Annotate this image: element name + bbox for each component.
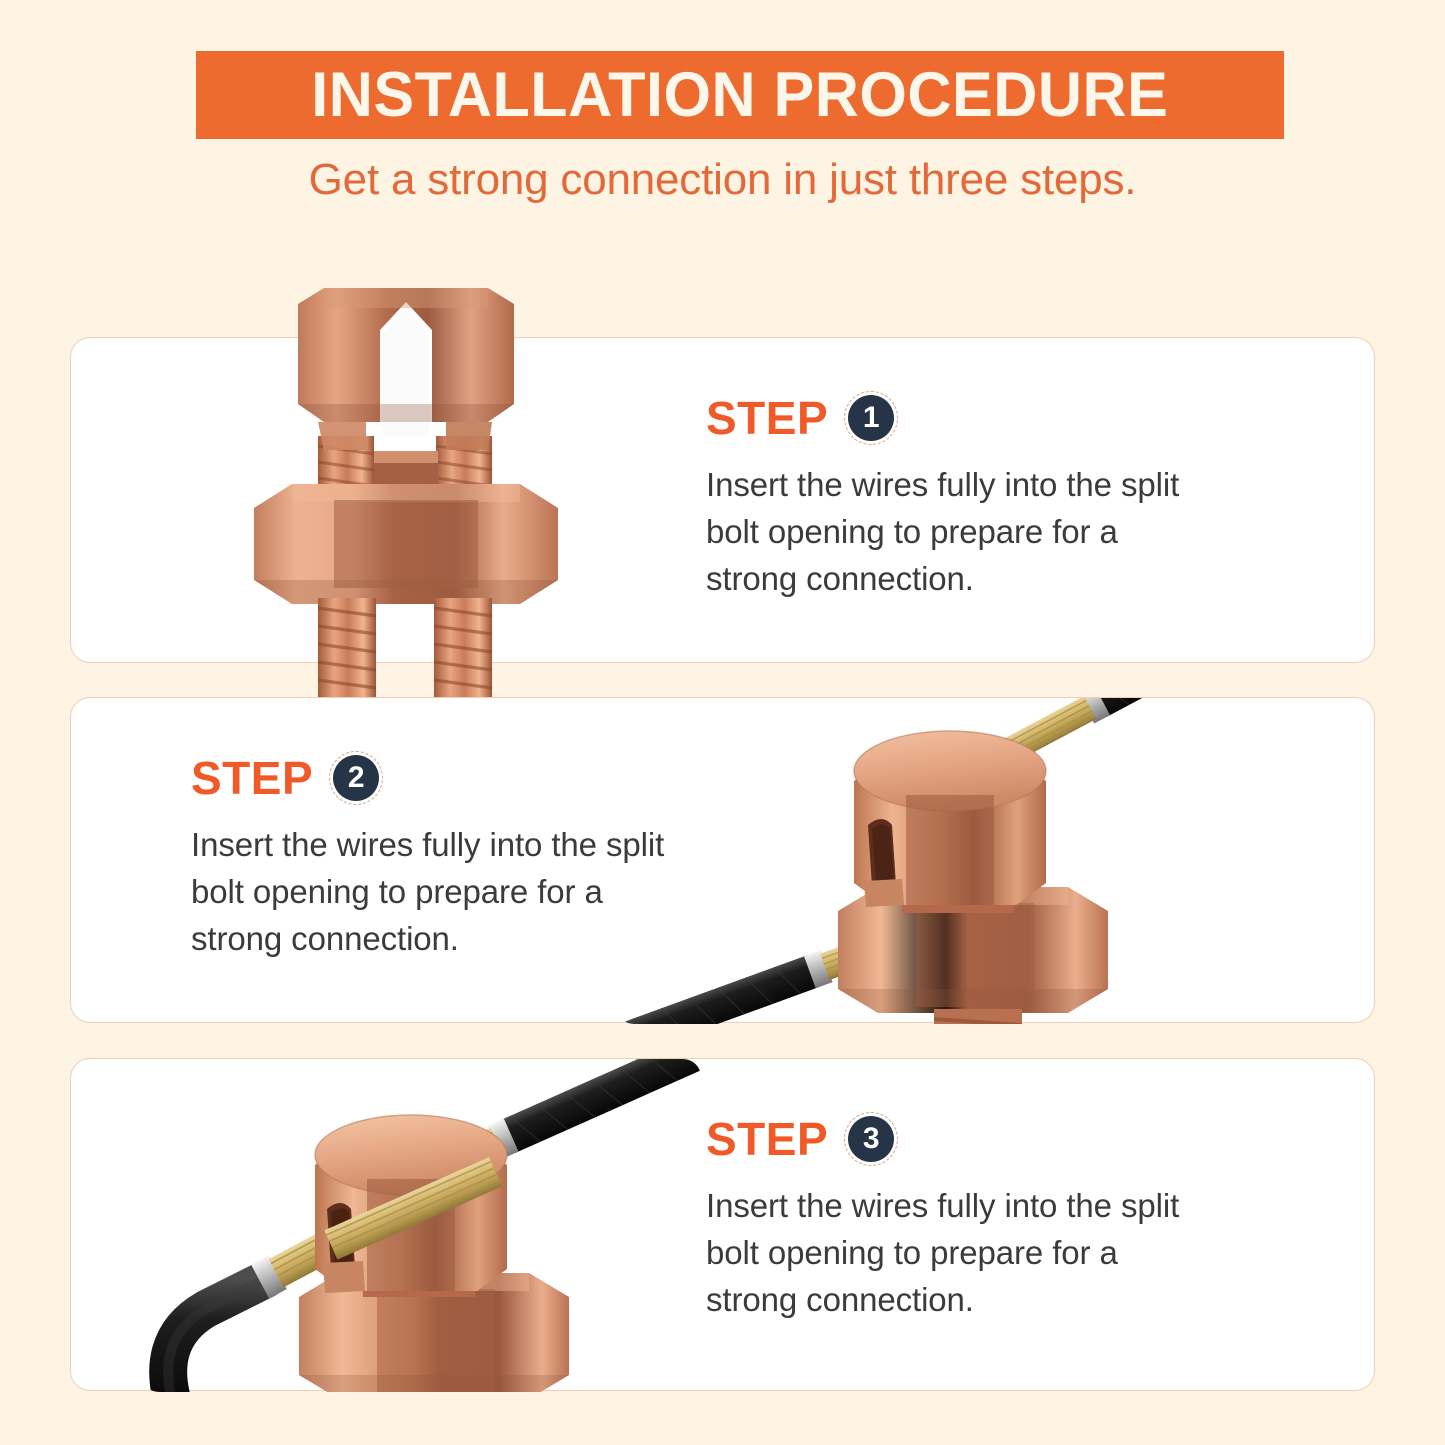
step-number-1: 1 xyxy=(863,403,880,433)
page-subtitle: Get a strong connection in just three st… xyxy=(0,155,1445,205)
step-number-badge-2: 2 xyxy=(329,751,383,805)
badge-disc: 3 xyxy=(848,1116,894,1162)
split-bolt-image-step-2 xyxy=(616,673,1276,1073)
step-card-2: STEP 2 Insert the wires fully into the s… xyxy=(70,697,1375,1023)
step-number-badge-1: 1 xyxy=(844,391,898,445)
split-bolt-image-step-1 xyxy=(246,286,566,716)
title-banner: INSTALLATION PROCEDURE xyxy=(196,51,1284,139)
step-description-3: Insert the wires fully into the split bo… xyxy=(706,1183,1206,1324)
step-text-block-1: STEP 1 Insert the wires fully into the s… xyxy=(706,390,1206,603)
step-heading-2: STEP 2 xyxy=(191,750,691,806)
step-label-1: STEP xyxy=(706,395,828,441)
step-description-1: Insert the wires fully into the split bo… xyxy=(706,462,1206,603)
step-number-3: 3 xyxy=(863,1124,880,1154)
split-bolt-image-step-3 xyxy=(1,1041,701,1441)
step-text-block-3: STEP 3 Insert the wires fully into the s… xyxy=(706,1111,1206,1324)
step-label-3: STEP xyxy=(706,1116,828,1162)
badge-disc: 2 xyxy=(333,755,379,801)
step-number-2: 2 xyxy=(348,763,365,793)
step-text-block-2: STEP 2 Insert the wires fully into the s… xyxy=(191,750,691,963)
step-description-2: Insert the wires fully into the split bo… xyxy=(191,822,691,963)
step-heading-1: STEP 1 xyxy=(706,390,1206,446)
step-number-badge-3: 3 xyxy=(844,1112,898,1166)
step-card-3: STEP 3 Insert the wires fully into the s… xyxy=(70,1058,1375,1391)
page-title: INSTALLATION PROCEDURE xyxy=(311,64,1168,127)
page-header: INSTALLATION PROCEDURE Get a strong conn… xyxy=(0,0,1445,230)
step-card-1: STEP 1 Insert the wires fully into the s… xyxy=(70,337,1375,663)
step-label-2: STEP xyxy=(191,755,313,801)
badge-disc: 1 xyxy=(848,395,894,441)
step-heading-3: STEP 3 xyxy=(706,1111,1206,1167)
